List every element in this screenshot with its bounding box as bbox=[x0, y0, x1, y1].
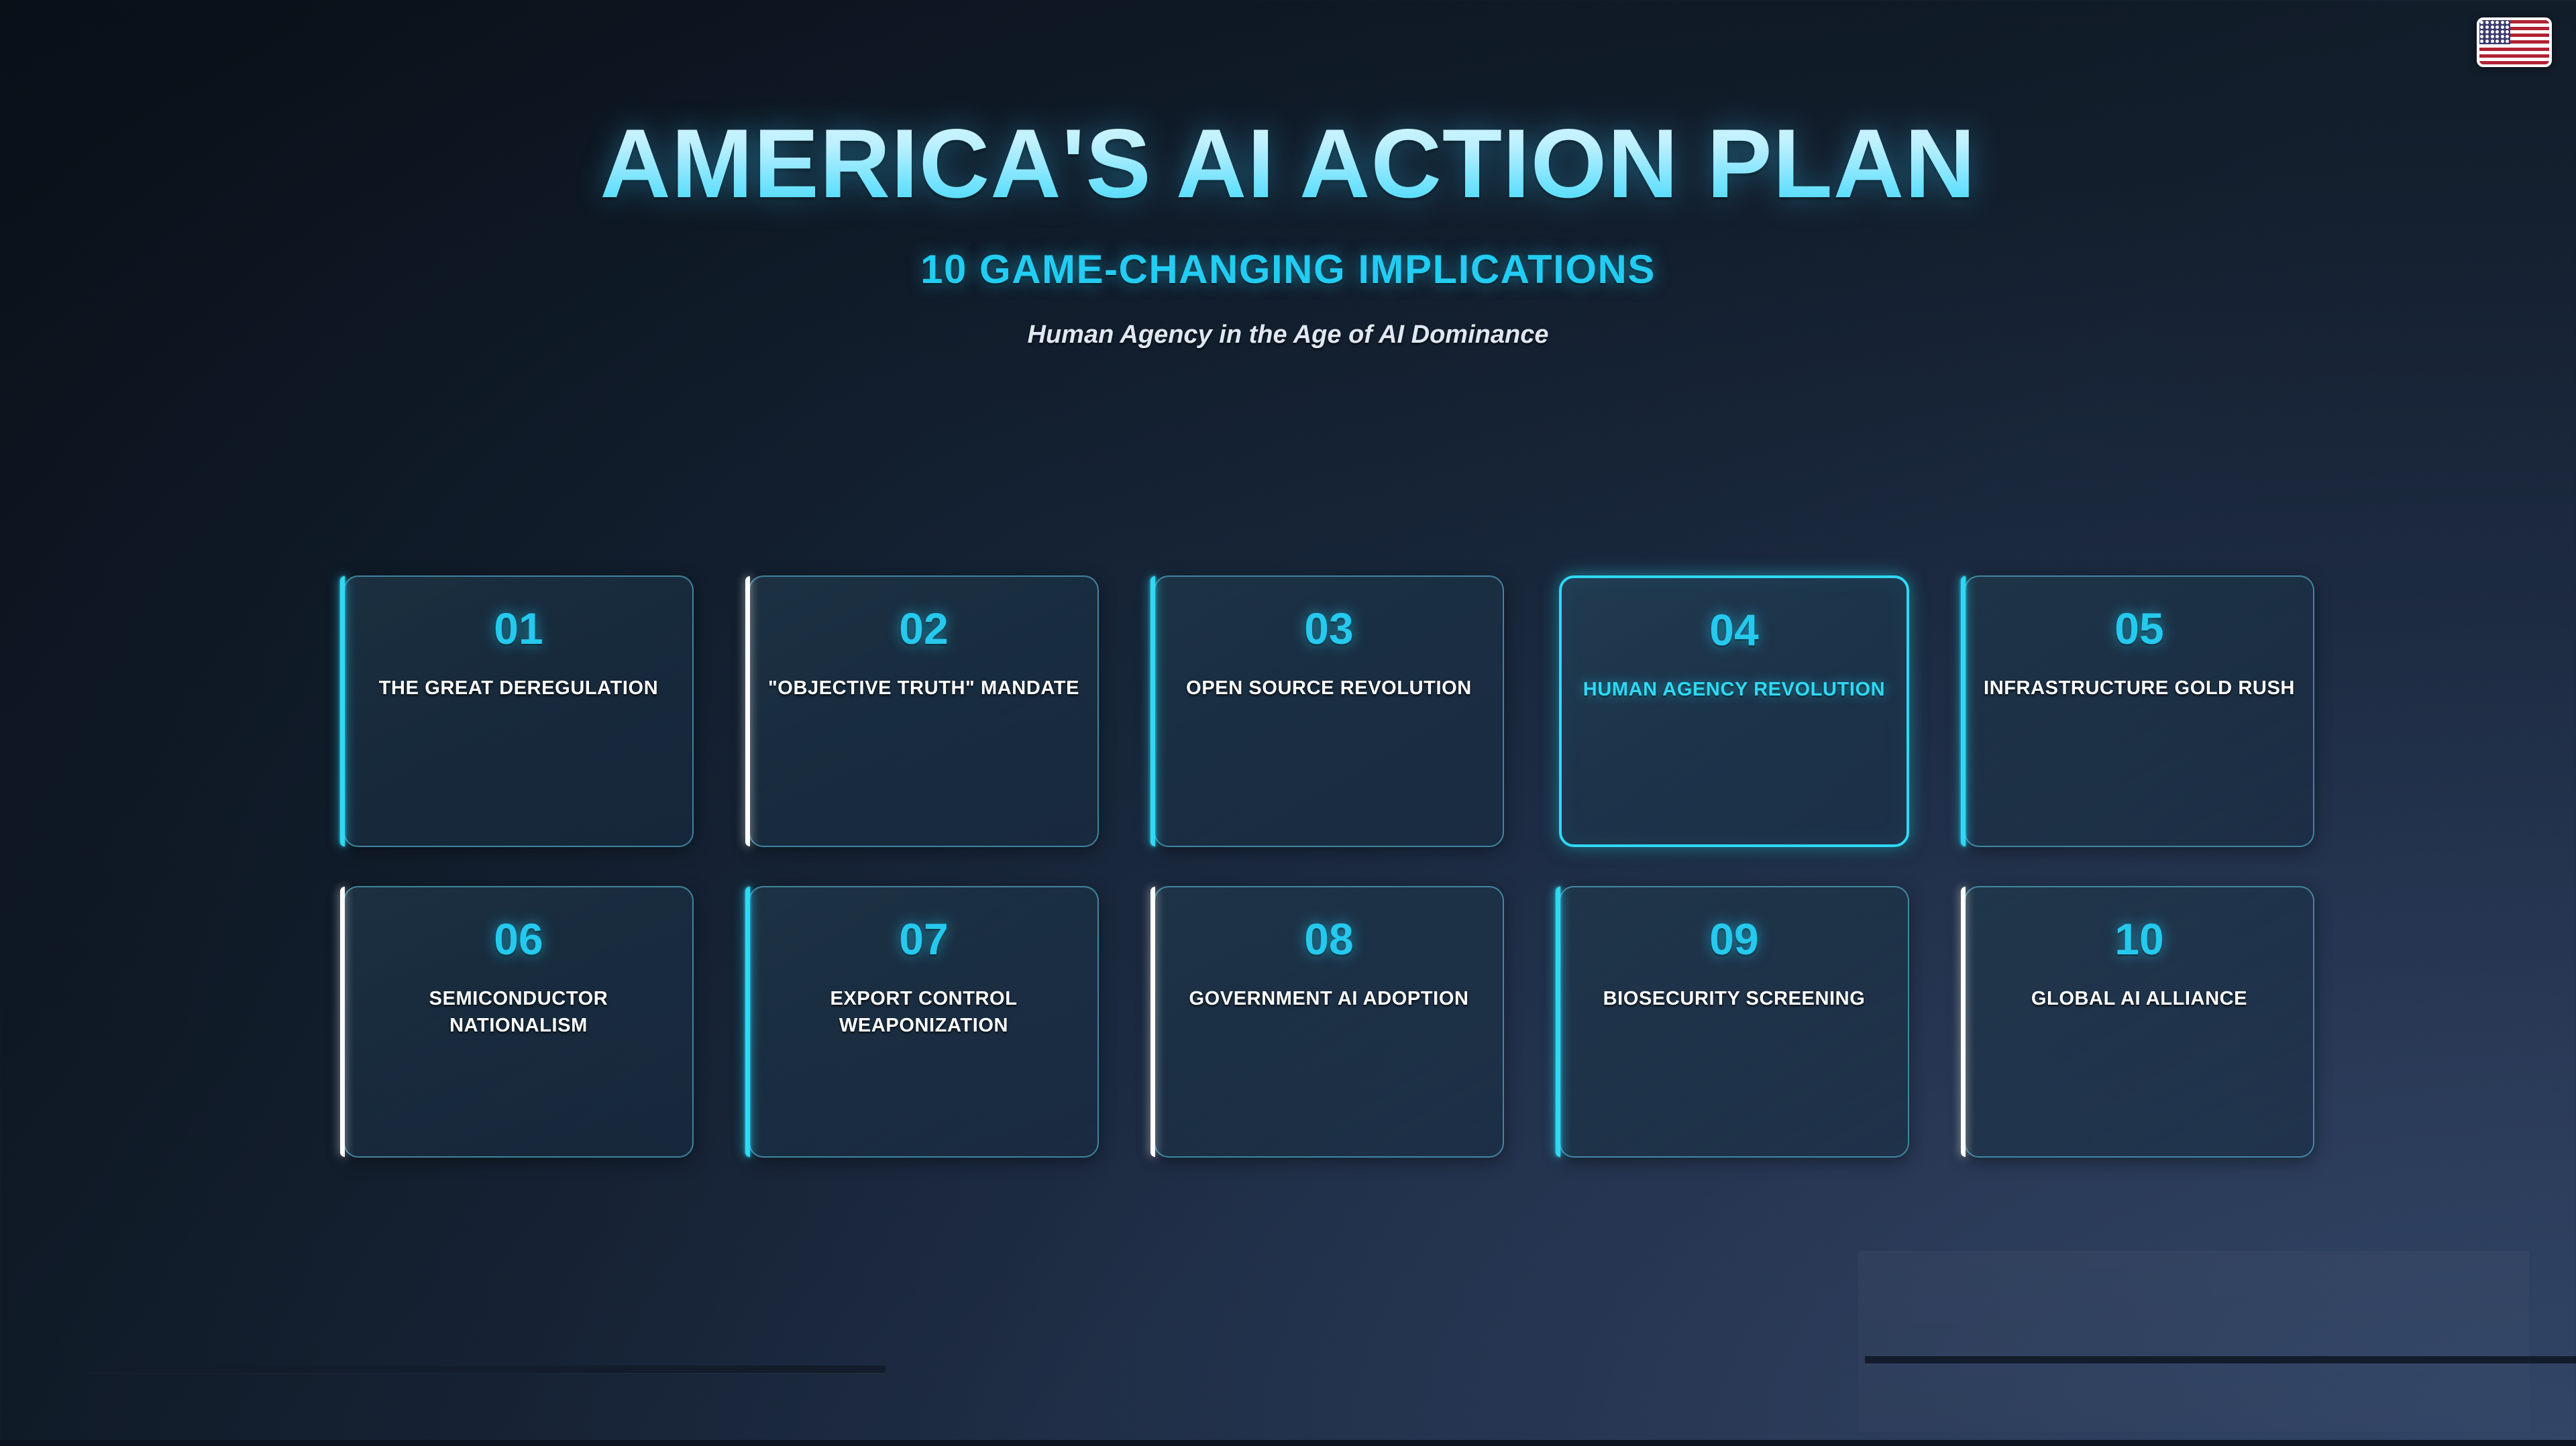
card-number: 08 bbox=[1155, 917, 1503, 961]
implication-card-01[interactable]: 01THE GREAT DEREGULATION bbox=[343, 575, 694, 847]
implication-card-09[interactable]: 09BIOSECURITY SCREENING bbox=[1559, 886, 1909, 1158]
card-number: 02 bbox=[750, 606, 1097, 651]
page-subtitle: 10 GAME-CHANGING IMPLICATIONS bbox=[0, 246, 2576, 292]
card-number: 10 bbox=[1966, 917, 2313, 961]
implication-card-04[interactable]: 04HUMAN AGENCY REVOLUTION bbox=[1559, 575, 1909, 847]
card-title: BIOSECURITY SCREENING bbox=[1560, 985, 1908, 1012]
flag-canton bbox=[2479, 20, 2510, 44]
page-title: AMERICA'S AI ACTION PLAN bbox=[0, 114, 2576, 214]
card-title: SEMICONDUCTOR NATIONALISM bbox=[345, 985, 692, 1039]
card-number: 05 bbox=[1966, 606, 2313, 651]
card-title: EXPORT CONTROL WEAPONIZATION bbox=[750, 985, 1097, 1039]
card-number: 06 bbox=[345, 917, 692, 961]
implication-card-08[interactable]: 08GOVERNMENT AI ADOPTION bbox=[1154, 886, 1504, 1158]
card-title: INFRASTRUCTURE GOLD RUSH bbox=[1966, 675, 2313, 702]
card-title: THE GREAT DEREGULATION bbox=[345, 675, 692, 702]
implication-card-03[interactable]: 03OPEN SOURCE REVOLUTION bbox=[1154, 575, 1504, 847]
implication-card-02[interactable]: 02"OBJECTIVE TRUTH" MANDATE bbox=[749, 575, 1099, 847]
decorative-line-right bbox=[1865, 1356, 2576, 1364]
card-number: 03 bbox=[1155, 606, 1503, 651]
card-title: HUMAN AGENCY REVOLUTION bbox=[1562, 676, 1907, 703]
us-flag-icon bbox=[2477, 17, 2552, 67]
card-number: 09 bbox=[1560, 917, 1908, 961]
implication-card-06[interactable]: 06SEMICONDUCTOR NATIONALISM bbox=[343, 886, 694, 1158]
header: AMERICA'S AI ACTION PLAN 10 GAME-CHANGIN… bbox=[0, 114, 2576, 349]
card-number: 07 bbox=[750, 917, 1097, 961]
page-tagline: Human Agency in the Age of AI Dominance bbox=[0, 321, 2576, 349]
card-number: 01 bbox=[345, 606, 692, 651]
card-number: 04 bbox=[1562, 608, 1907, 652]
decorative-baseline bbox=[0, 1440, 2576, 1446]
implication-card-07[interactable]: 07EXPORT CONTROL WEAPONIZATION bbox=[749, 886, 1099, 1158]
decorative-panel bbox=[1858, 1251, 2529, 1432]
implications-grid: 01THE GREAT DEREGULATION02"OBJECTIVE TRU… bbox=[343, 575, 2242, 1158]
implication-card-10[interactable]: 10GLOBAL AI ALLIANCE bbox=[1964, 886, 2314, 1158]
card-title: GLOBAL AI ALLIANCE bbox=[1966, 985, 2313, 1012]
card-title: GOVERNMENT AI ADOPTION bbox=[1155, 985, 1503, 1012]
card-title: OPEN SOURCE REVOLUTION bbox=[1155, 675, 1503, 702]
decorative-line-left bbox=[87, 1366, 885, 1373]
implication-card-05[interactable]: 05INFRASTRUCTURE GOLD RUSH bbox=[1964, 575, 2314, 847]
card-title: "OBJECTIVE TRUTH" MANDATE bbox=[750, 675, 1097, 702]
